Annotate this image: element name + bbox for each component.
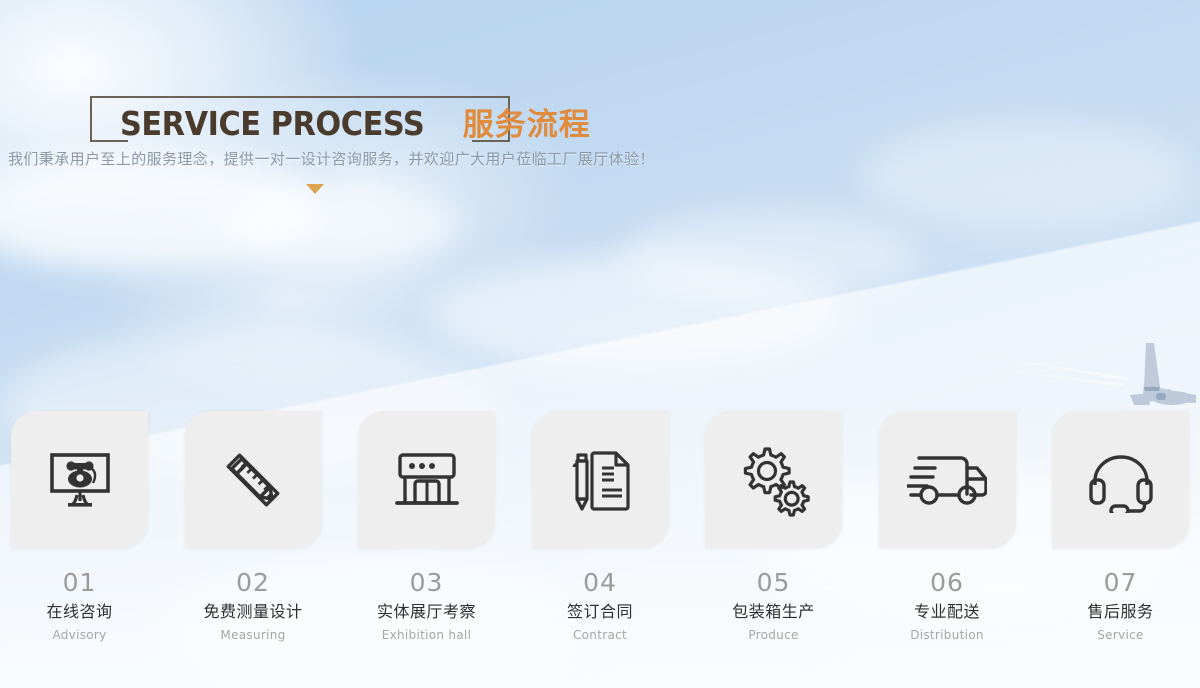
chevron-down-icon	[306, 184, 324, 194]
title-chinese: 服务流程	[463, 99, 591, 144]
step-number: 01	[63, 570, 97, 595]
ruler-pencil-icon	[218, 445, 288, 515]
process-step[interactable]: 07 售后服务 Service	[1047, 411, 1194, 641]
storefront-icon	[390, 447, 464, 513]
service-process-steps: 01 在线咨询 Advisory	[0, 411, 1200, 641]
title-english: SERVICE PROCESS	[120, 104, 424, 143]
process-step[interactable]: 06 专业配送 Distribution	[874, 411, 1021, 641]
process-step[interactable]: 02 免费测量设计 Measuring	[180, 411, 327, 641]
step-number: 02	[236, 570, 270, 595]
step-name-en: Advisory	[52, 629, 106, 641]
step-name: 实体展厅考察	[377, 604, 476, 620]
delivery-truck-icon	[907, 449, 987, 511]
airplane-icon	[1100, 335, 1200, 415]
step-icon-card[interactable]	[185, 411, 322, 548]
step-name: 在线咨询	[46, 604, 112, 620]
step-name-en: Service	[1097, 629, 1143, 641]
process-step[interactable]: 04 签订合同 Contract	[527, 411, 674, 641]
step-name-en: Distribution	[910, 629, 984, 641]
process-step[interactable]: 05 包装箱生产 Produce	[700, 411, 847, 641]
step-number: 07	[1104, 570, 1138, 595]
step-name-en: Contract	[573, 629, 627, 641]
step-name: 免费测量设计	[203, 604, 302, 620]
step-name-en: Exhibition hall	[382, 629, 472, 641]
step-number: 04	[583, 570, 617, 595]
section-subtitle: 我们秉承用户至上的服务理念，提供一对一设计咨询服务，并欢迎广大用户莅临工厂展厅体…	[8, 148, 655, 169]
step-number: 03	[410, 570, 444, 595]
step-icon-card[interactable]	[1052, 411, 1189, 548]
process-step[interactable]: 01 在线咨询 Advisory	[6, 411, 153, 641]
step-icon-card[interactable]	[705, 411, 842, 548]
step-name: 签订合同	[567, 604, 633, 620]
pen-document-icon	[564, 445, 636, 515]
step-name: 包装箱生产	[732, 604, 815, 620]
step-icon-card[interactable]	[879, 411, 1016, 548]
step-name-en: Produce	[748, 629, 798, 641]
page-title: SERVICE PROCESS 服务流程	[120, 99, 591, 144]
step-icon-card[interactable]	[532, 411, 669, 548]
process-step[interactable]: 03 实体展厅考察 Exhibition hall	[353, 411, 500, 641]
headset-icon	[1085, 447, 1157, 513]
step-number: 05	[757, 570, 791, 595]
step-name: 售后服务	[1087, 604, 1153, 620]
step-name: 专业配送	[914, 604, 980, 620]
gears-icon	[735, 443, 813, 517]
monitor-phone-icon	[43, 445, 117, 515]
step-name-en: Measuring	[220, 629, 285, 641]
step-icon-card[interactable]	[11, 411, 148, 548]
step-number: 06	[930, 570, 964, 595]
step-icon-card[interactable]	[358, 411, 495, 548]
